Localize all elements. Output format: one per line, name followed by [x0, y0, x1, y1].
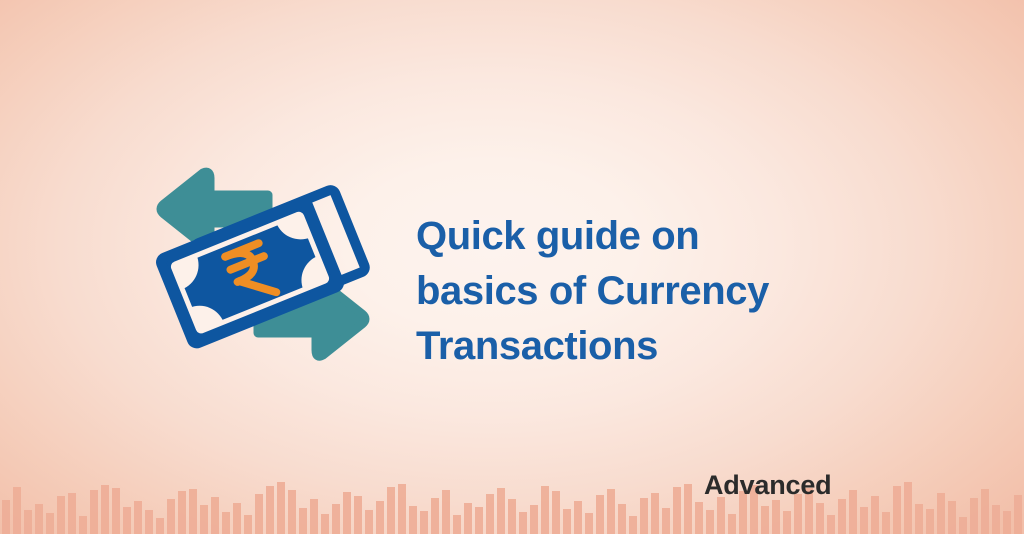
bar-chart-bar — [255, 494, 263, 534]
bar-chart-bar — [354, 496, 362, 534]
bar-chart-bar — [244, 515, 252, 534]
bar-chart-bar — [651, 493, 659, 534]
bar-chart-bar — [629, 516, 637, 534]
bar-chart-bar — [156, 518, 164, 534]
bar-chart-bar — [222, 512, 230, 534]
bar-chart-bar — [706, 510, 714, 534]
bar-chart-bar — [178, 491, 186, 534]
bar-chart-bar — [387, 487, 395, 534]
bar-chart-bar — [233, 503, 241, 534]
bar-chart-bar — [915, 504, 923, 534]
headline-line-2: basics of Currency — [416, 264, 896, 319]
bar-chart-bar — [277, 482, 285, 534]
bar-chart-bar — [838, 499, 846, 534]
bar-chart-bar — [497, 488, 505, 534]
bar-chart-bar — [684, 484, 692, 534]
level-badge: Advanced — [704, 470, 831, 501]
bar-chart-bar — [464, 503, 472, 534]
bar-chart-bar — [376, 501, 384, 534]
bar-chart-bar — [673, 487, 681, 534]
bar-chart-bar — [937, 493, 945, 534]
bar-chart-bar — [189, 489, 197, 534]
headline-line-1: Quick guide on — [416, 209, 896, 264]
bar-chart-bar — [728, 514, 736, 534]
bar-chart-bar — [101, 485, 109, 534]
bar-chart-bar — [365, 510, 373, 534]
bar-chart-bar — [849, 490, 857, 534]
bar-chart-bar — [266, 486, 274, 534]
bar-chart-bar — [596, 495, 604, 534]
bar-chart-bar — [761, 506, 769, 534]
bar-chart-bar — [332, 504, 340, 534]
bar-chart-bar — [24, 510, 32, 534]
bar-chart-bar — [112, 488, 120, 534]
bar-chart-bar — [145, 510, 153, 534]
bar-chart-bar — [695, 502, 703, 534]
bar-chart-bar — [13, 487, 21, 534]
bar-chart-bar — [783, 511, 791, 534]
bar-chart-bar — [640, 498, 648, 534]
bar-chart-bar — [827, 515, 835, 534]
bar-chart-bar — [431, 498, 439, 534]
bar-chart-bar — [68, 493, 76, 534]
headline-line-3: Transactions — [416, 319, 896, 374]
bar-chart-bar — [1014, 495, 1022, 534]
bar-chart-bar — [552, 491, 560, 534]
bar-chart-bar — [948, 501, 956, 534]
course-banner: Quick guide on basics of Currency Transa… — [0, 0, 1024, 534]
bar-chart-bar — [475, 507, 483, 534]
currency-exchange-icon — [148, 148, 378, 383]
bar-chart-bar — [123, 507, 131, 534]
bar-chart-bar — [343, 492, 351, 534]
bar-chart-bar — [79, 516, 87, 534]
bar-chart-bar — [453, 515, 461, 534]
bar-chart-bar — [299, 508, 307, 534]
bar-chart-bar — [541, 486, 549, 534]
bar-chart-bar — [662, 508, 670, 534]
bar-chart-bar — [563, 509, 571, 534]
bar-chart-bar — [981, 489, 989, 534]
bar-chart-bar — [926, 509, 934, 534]
bar-chart-bar — [134, 501, 142, 534]
bar-chart-bar — [508, 499, 516, 534]
bar-chart-bar — [530, 505, 538, 534]
bar-chart-bar — [574, 501, 582, 534]
bar-chart-bar — [200, 505, 208, 534]
bar-chart-bar — [816, 503, 824, 534]
bar-chart-bar — [860, 507, 868, 534]
bar-chart-bar — [992, 505, 1000, 534]
bar-chart-bar — [35, 504, 43, 534]
bar-chart-bar — [904, 482, 912, 534]
bar-chart-bar — [486, 494, 494, 534]
bar-chart-bar — [585, 513, 593, 534]
bar-chart-bar — [2, 500, 10, 534]
bar-chart-bar — [57, 496, 65, 534]
bar-chart-bar — [167, 499, 175, 534]
bar-chart-bar — [90, 490, 98, 534]
bar-chart-bar — [310, 499, 318, 534]
bar-chart-bar — [321, 514, 329, 534]
bar-chart-bar — [871, 496, 879, 534]
bar-chart-bar — [717, 497, 725, 534]
bar-chart-pattern — [0, 474, 1024, 534]
bar-chart-bar — [519, 512, 527, 534]
bar-chart-bar — [970, 498, 978, 534]
bar-chart-bar — [607, 489, 615, 534]
bar-chart-bar — [959, 517, 967, 534]
bar-chart-bar — [398, 484, 406, 534]
bar-chart-bar — [618, 504, 626, 534]
bar-chart-bar — [893, 486, 901, 534]
bar-chart-bar — [882, 512, 890, 534]
bar-chart-bar — [288, 490, 296, 534]
bar-chart-bar — [420, 511, 428, 534]
bar-chart-bar — [211, 497, 219, 534]
bar-chart-bar — [409, 506, 417, 534]
headline: Quick guide on basics of Currency Transa… — [416, 209, 896, 374]
bar-chart-bar — [46, 513, 54, 534]
bar-chart-bar — [772, 500, 780, 534]
bar-chart-bar — [1003, 511, 1011, 534]
bar-chart-bar — [442, 490, 450, 534]
